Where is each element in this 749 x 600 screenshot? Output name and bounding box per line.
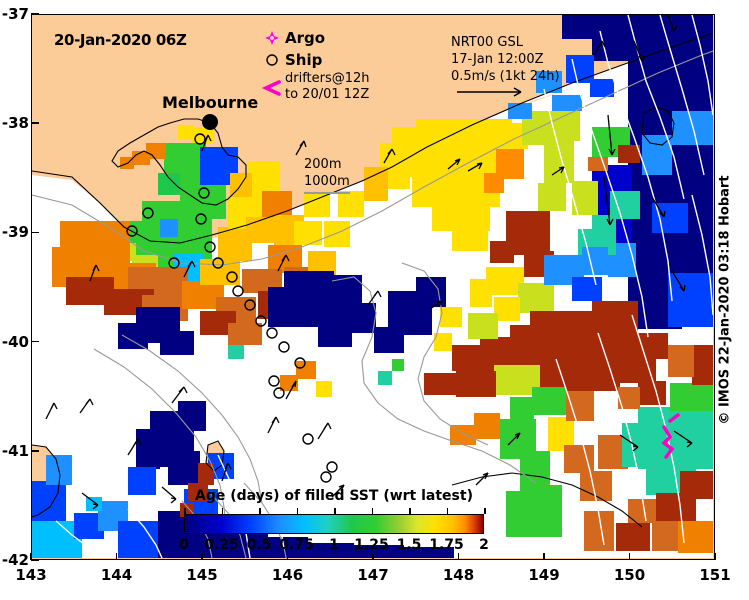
colorbar-title: Age (days) of filled SST (wrt latest) [184,488,484,504]
colorbar-legend: Age (days) of filled SST (wrt latest) 00… [184,488,484,555]
bathy-label-1000m: 1000m [304,173,350,190]
map-plot-area[interactable]: 20-Jan-2020 06Z Melbourne Argo Shi [31,14,715,560]
colorbar-tick [484,508,486,514]
date-stamp: 20-Jan-2020 06Z [54,31,186,49]
credit-text: © IMOS 22-Jan-2020 03:18 Hobart [718,175,733,424]
velocity-scale-arrow-icon [457,86,527,98]
map-raster [32,15,713,558]
y-tick-label: -37 [2,5,29,23]
x-tick-mark [458,553,460,560]
legend-drifter-line1: drifters@12h [285,71,370,87]
y-tick-mark [31,450,39,452]
colorbar-tick-label: 1.75 [429,537,464,553]
x-tick-label: 144 [101,566,132,584]
y-tick-label: -41 [2,442,29,460]
x-tick-mark [116,553,118,560]
x-tick-mark [714,553,716,560]
argo-diamond-icon [259,30,285,46]
legend-row-argo: Argo [259,27,370,49]
gsl-line3: 0.5m/s (1kt 24h) [451,68,560,85]
bathymetry-legend: 200m 1000m [304,156,350,194]
x-tick-mark [372,553,374,560]
x-tick-label: 147 [357,566,388,584]
x-tick-label: 145 [186,566,217,584]
legend-label-ship: Ship [285,51,322,69]
bathy-label-200m: 200m [304,156,350,173]
y-tick-mark [31,232,39,234]
y-tick-label: -42 [2,551,29,569]
gsl-annotation: NRT00 GSL 17-Jan 12:00Z 0.5m/s (1kt 24h) [451,34,560,103]
gsl-line1: NRT00 GSL [451,34,560,51]
x-tick-label: 150 [614,566,645,584]
colorbar-tick-label: 1.5 [397,537,422,553]
legend-row-drifter: drifters@12h to 20/01 12Z [259,71,370,105]
x-tick-mark [201,553,203,560]
y-tick-mark [31,559,39,561]
x-tick-label: 151 [699,566,730,584]
melbourne-city-marker [202,114,218,130]
y-tick-label: -39 [2,223,29,241]
colorbar-tick-label: 1.25 [354,537,389,553]
legend-drifter-line2: to 20/01 12Z [285,87,370,103]
x-tick-label: 148 [443,566,474,584]
y-tick-mark [31,122,39,124]
colorbar-tick-label: 0.5 [247,537,272,553]
x-tick-label: 149 [528,566,559,584]
y-tick-mark [31,341,39,343]
colorbar-tick-label: 0.75 [279,537,314,553]
colorbar-gradient [184,514,484,534]
colorbar-tick-label: 1 [329,537,339,553]
colorbar-tick-labels: 00.250.50.7511.251.51.752 [184,537,484,555]
y-tick-label: -38 [2,114,29,132]
legend-label-argo: Argo [285,29,325,47]
marker-legend: Argo Ship drifters@12h to 20/ [259,27,370,105]
colorbar-tick-label: 2 [479,537,489,553]
bathy-rule-line [304,192,350,194]
x-tick-label: 146 [272,566,303,584]
x-tick-mark [543,553,545,560]
y-tick-mark [31,13,39,15]
open-circle-icon [259,52,285,68]
gsl-line2: 17-Jan 12:00Z [451,51,560,68]
colorbar-tick-label: 0.25 [204,537,239,553]
x-tick-mark [629,553,631,560]
legend-row-ship: Ship [259,49,370,71]
city-label-melbourne: Melbourne [162,93,258,112]
y-tick-label: -40 [2,333,29,351]
sst-age-map-figure: 20-Jan-2020 06Z Melbourne Argo Shi [0,0,749,600]
drifter-chevron-icon [259,71,285,97]
x-tick-mark [287,553,289,560]
colorbar-tick-label: 0 [179,537,189,553]
